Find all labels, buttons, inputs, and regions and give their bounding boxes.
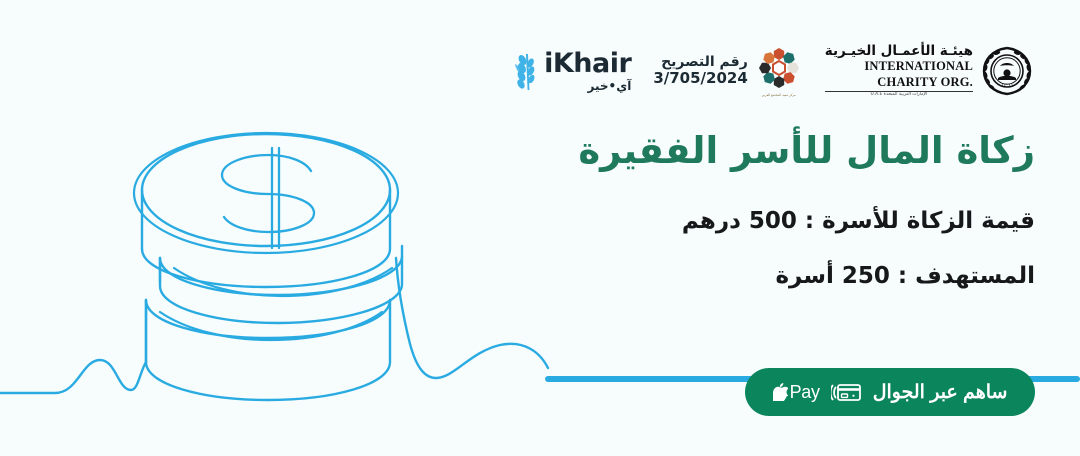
rosette-caption: مركز تنمية المجتمع العربي <box>762 93 796 98</box>
apple-pay-label: Pay <box>790 382 820 403</box>
target-families-text: المستهدف : 250 أسرة <box>475 263 1035 291</box>
ikhair-logo: iKhair آي•خير <box>510 50 631 92</box>
rosette-flower-icon <box>755 44 803 92</box>
ico-arabic-name: هيئـة الأعمـال الخيـرية <box>825 45 973 59</box>
zakat-donation-banner: iKhair آي•خير رقم التصريح 3/705/2024 <box>0 0 1080 456</box>
international-charity-org-logo: هيئـة الأعمـال الخيـرية INTERNATIONAL CH… <box>825 42 1036 100</box>
ikhair-wordmark: iKhair آي•خير <box>544 50 631 92</box>
pay-methods: Pay <box>773 381 861 403</box>
donate-via-mobile-button[interactable]: ساهم عبر الجوال Pay <box>745 368 1035 416</box>
svg-text:I C O: I C O <box>1001 84 1013 89</box>
ico-english-line1: INTERNATIONAL <box>864 60 973 74</box>
ico-subtitle: الإمارات العربية المتحدة U.A.E <box>825 91 973 97</box>
permit-number-logo: رقم التصريح 3/705/2024 <box>653 44 802 98</box>
permit-text: رقم التصريح 3/705/2024 <box>653 55 747 87</box>
contactless-card-icon <box>831 381 861 403</box>
rosette-wrap: مركز تنمية المجتمع العربي <box>755 44 803 98</box>
ico-english-line2: CHARITY ORG. <box>877 76 973 90</box>
apple-logo-icon <box>773 383 788 401</box>
zakat-amount-text: قيمة الزكاة للأسرة : 500 درهم <box>475 208 1035 236</box>
ikhair-english-name: iKhair <box>544 50 631 77</box>
wheat-stalk-icon <box>510 50 540 92</box>
laurel-wreath-seal-icon: I C O <box>978 42 1036 100</box>
ikhair-arabic-name: آي•خير <box>588 80 632 92</box>
cta-label: ساهم عبر الجوال <box>873 381 1008 404</box>
logo-strip: iKhair آي•خير رقم التصريح 3/705/2024 <box>510 40 1036 102</box>
page-title: زكاة المال للأسر الفقيرة <box>475 128 1035 174</box>
apple-pay-mark: Pay <box>773 382 820 403</box>
permit-number: 3/705/2024 <box>653 70 747 87</box>
permit-label: رقم التصريح <box>661 55 748 71</box>
ico-text: هيئـة الأعمـال الخيـرية INTERNATIONAL CH… <box>825 45 973 98</box>
copy-block: زكاة المال للأسر الفقيرة قيمة الزكاة للأ… <box>475 128 1035 290</box>
